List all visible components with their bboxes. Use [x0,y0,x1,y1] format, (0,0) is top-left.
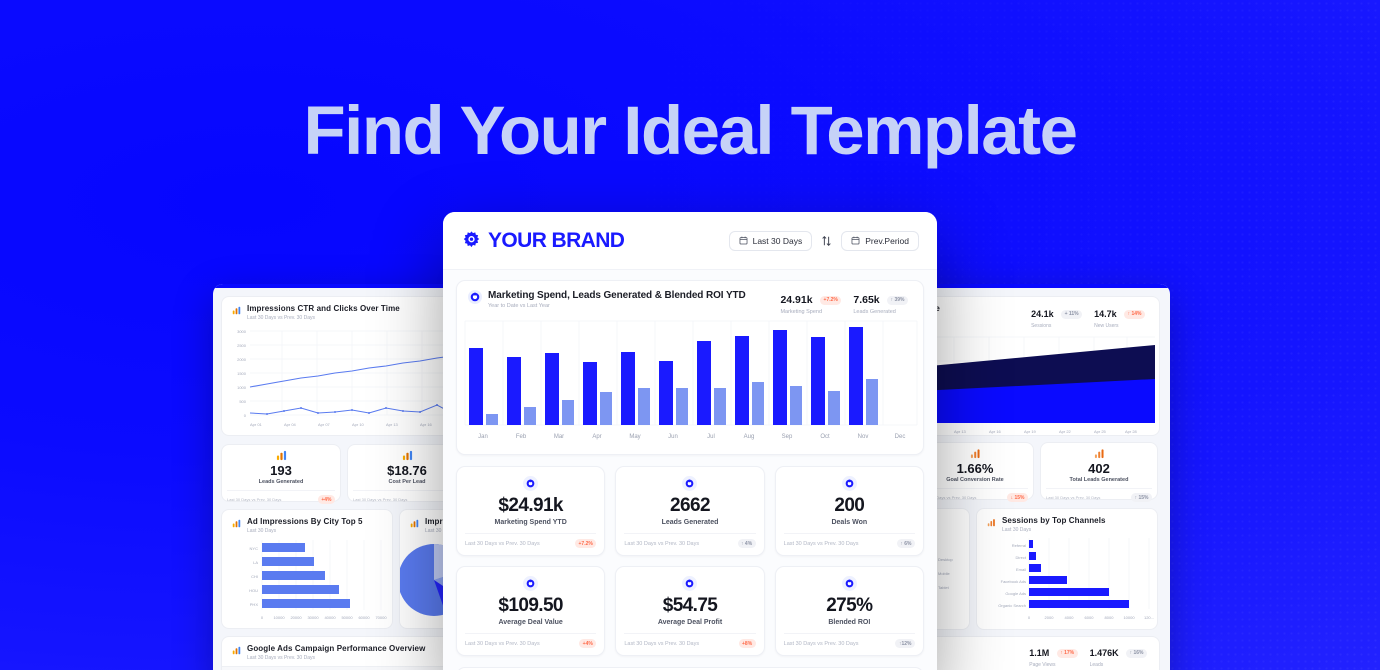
svg-text:Apr 16: Apr 16 [989,429,1002,434]
dashboard-body: Marketing Spend, Leads Generated & Blend… [443,270,937,670]
right-background-dashboard: Time 24.1k + 11% Sessions 14.7k ↑ 14% Ne… [918,284,1170,670]
google-analytics-icon [276,450,287,461]
kpi-compare: Last 30 Days vs Prev. 30 Days [624,641,699,647]
google-analytics-icon [230,517,242,529]
svg-text:60000: 60000 [358,615,370,620]
left-city-bar-card: Ad Impressions By City Top 5 Last 30 Day… [221,509,393,629]
right-channels-svg: Referral Direct Email Facebook Ads Googl… [977,537,1159,627]
kpi-value: 193 [227,463,335,478]
svg-text:2000: 2000 [237,357,247,362]
svg-text:Apr 01: Apr 01 [250,422,263,427]
kpi-delta-badge: +4% [579,639,596,648]
bar-jun-leads [676,388,688,425]
google-analytics-icon [402,450,413,461]
card-subtitle: Last 30 Days [1002,527,1106,533]
marketing-spend-chart-card: Marketing Spend, Leads Generated & Blend… [456,280,924,455]
kpi-compare: Last 30 Days vs Prev. 30 Days [624,541,699,547]
svg-text:Sep: Sep [782,434,793,440]
date-range-button[interactable]: Last 30 Days [729,231,813,251]
svg-text:Referral: Referral [1012,543,1026,548]
right-area-chart-card: Time 24.1k + 11% Sessions 14.7k ↑ 14% Ne… [918,296,1160,436]
svg-text:LA: LA [253,560,258,565]
svg-text:1500: 1500 [237,371,247,376]
card-subtitle: Last 30 Days [247,528,363,534]
bar-feb-spend [507,357,521,425]
metric-delta-badge: ↑ 39% [887,296,908,305]
metric-value: 14.7k [1094,309,1117,319]
right-area-metric-0: 24.1k + 11% Sessions [1031,304,1082,329]
svg-text:120...: 120... [1144,615,1154,620]
card-title: Impressions CTR and Clicks Over Time [247,304,400,313]
bar-chart-icon [1094,448,1105,459]
main-dashboard-window: YOUR BRAND Last 30 Days [443,212,937,670]
metric-label: Sessions [1031,323,1082,329]
kpi-label: Leads Generated [624,519,755,526]
left-line-chart-card: Impressions CTR and Clicks Over Time Las… [221,296,463,436]
svg-text:Mar: Mar [554,434,564,440]
left-background-dashboard: Impressions CTR and Clicks Over Time Las… [213,284,463,670]
svg-text:Apr: Apr [592,434,601,440]
kpi-compare: Last 30 Days vs Prev. 30 Days [1046,495,1100,500]
header-controls: Last 30 Days Prev.Period [729,231,919,251]
left-table-column-headers: Ad Creative Impressions Clicks Leads [222,666,463,670]
svg-text:4000: 4000 [1065,615,1075,620]
hero-title: Find Your Ideal Template [0,96,1380,165]
calendar-icon [851,236,860,245]
left-city-bar-svg: NYC LA CHI HOU PHX 0 10000 20000 30000 4… [222,538,394,626]
svg-text:8000: 8000 [1105,615,1115,620]
gear-icon [461,230,482,251]
svg-text:2500: 2500 [237,343,247,348]
svg-text:Facebook Ads: Facebook Ads [1001,579,1026,584]
kpi-compare: Last 30 Days vs Prev. 30 Days [353,497,407,502]
kpi-compare: Last 30 Days vs Prev. 30 Days [784,541,859,547]
bar-apr-leads [600,392,612,425]
analytics-circle-icon [842,576,857,591]
svg-text:Jun: Jun [668,434,678,440]
chart-title: Marketing Spend, Leads Generated & Blend… [488,290,746,301]
right-table-metric-1: 1.476K ↑ 16% Leads [1090,643,1147,668]
bar-may-spend [621,352,635,425]
kpi-compare: Last 30 Days vs Prev. 30 Days [784,641,859,647]
kpi-delta-badge: +4% [318,495,335,504]
bar-oct-spend [811,337,825,425]
svg-text:Apr 07: Apr 07 [318,422,331,427]
kpi-label: Deals Won [784,519,915,526]
kpi-delta-badge: ↑ 6% [897,539,915,548]
bar-mar-leads [562,400,574,425]
google-analytics-icon [408,517,420,529]
svg-text:Apr 19: Apr 19 [1024,429,1037,434]
bar-may-leads [638,388,650,425]
metric-value: 1.476K [1090,648,1119,658]
kpi-label: Average Deal Profit [624,619,755,626]
kpi-label: Total Leads Generated [1046,477,1152,483]
metric-label: Leads Generated [853,309,908,315]
right-table-header: iew 1.1M ↑ 17% Page Views 1.476K ↑ 16% L… [918,637,1159,670]
svg-text:40000: 40000 [324,615,336,620]
table-column-header[interactable]: Ad Creative [222,667,284,670]
svg-text:Apr 13: Apr 13 [386,422,399,427]
analytics-circle-icon [523,476,538,491]
metric-label: Leads [1090,662,1147,668]
sort-swap-icon[interactable] [819,235,834,247]
bar-aug-leads [752,382,764,425]
right-channels-header: Sessions by Top Channels Last 30 Days [977,509,1157,537]
analytics-circle-icon [468,290,482,304]
bar-apr-spend [583,362,597,425]
bar-nov-leads [866,379,878,425]
left-line-chart-header: Impressions CTR and Clicks Over Time Las… [222,297,463,325]
svg-text:Apr 04: Apr 04 [284,422,297,427]
kpi-value: 275% [784,595,915,617]
metric-delta-badge: + 11% [1061,310,1082,319]
bar-jul-spend [697,341,711,425]
right-table-card: iew 1.1M ↑ 17% Page Views 1.476K ↑ 16% L… [918,636,1160,670]
kpi-label: Goal Conversion Rate [922,477,1028,483]
analytics-circle-icon [523,576,538,591]
kpi-value: $109.50 [465,595,596,617]
metric-delta-badge: ↑ 16% [1126,649,1147,658]
kpi-label: Blended ROI [784,619,915,626]
card-subtitle: Last 30 Days vs Prev. 30 Days [247,315,400,321]
metric-delta-badge: +7.2% [820,296,841,305]
chart-metric-0: 24.91k +7.2% Marketing Spend [780,290,841,315]
chart-subtitle: Year to Date vs Last Year [488,303,746,309]
kpi-compare: Last 30 Days vs Prev. 30 Days [465,541,540,547]
left-table-card: Google Ads Campaign Performance Overview… [221,636,463,670]
svg-text:Google Ads: Google Ads [1005,591,1026,596]
svg-text:3000: 3000 [237,329,247,334]
kpi-value: $54.75 [624,595,755,617]
kpi-grid: $24.91k Marketing Spend YTD Last 30 Days… [456,466,924,656]
kpi-label: Average Deal Value [465,619,596,626]
compare-period-button[interactable]: Prev.Period [841,231,919,251]
bar-aug-spend [735,336,749,425]
left-table-header: Google Ads Campaign Performance Overview… [222,637,463,666]
right-kpi-card-1: 402 Total Leads Generated Last 30 Days v… [1040,442,1158,500]
svg-text:Dec: Dec [895,434,906,440]
right-channels-card: Sessions by Top Channels Last 30 Days Re… [976,508,1158,630]
google-analytics-icon [230,304,242,316]
svg-text:50000: 50000 [341,615,353,620]
metric-value: 7.65k [853,294,879,306]
kpi-delta-badge: +8% [739,639,756,648]
donut-legend-tablet: Tablet [938,585,950,590]
svg-text:Apr 25: Apr 25 [1094,429,1107,434]
kpi-card-average-deal-value: $109.50 Average Deal Value Last 30 Days … [456,566,605,656]
marketing-spend-bar-chart: Jan Feb Mar Apr May Jun Jul Aug Sep Oct … [457,319,925,449]
kpi-label: Marketing Spend YTD [465,519,596,526]
svg-text:CHI: CHI [251,574,258,579]
right-area-chart-svg: Apr 10Apr 13 Apr 16Apr 19 Apr 22Apr 25 A… [918,333,1161,441]
brand-logo[interactable]: YOUR BRAND [461,229,624,253]
donut-legend-mobile: Mobile [938,571,951,576]
kpi-value: 200 [784,495,915,517]
svg-text:Organic Search: Organic Search [998,603,1026,608]
svg-text:HOU: HOU [249,588,258,593]
right-area-chart-header: Time 24.1k + 11% Sessions 14.7k ↑ 14% Ne… [918,297,1159,333]
kpi-card-marketing-spend: $24.91k Marketing Spend YTD Last 30 Days… [456,466,605,556]
date-range-label: Last 30 Days [753,236,803,246]
svg-text:2000: 2000 [1045,615,1055,620]
svg-text:Apr 22: Apr 22 [1059,429,1072,434]
svg-text:Jul: Jul [707,434,715,440]
kpi-card-leads-generated: 2662 Leads Generated Last 30 Days vs Pre… [615,466,764,556]
svg-text:Nov: Nov [858,434,869,440]
svg-text:Jan: Jan [478,434,488,440]
analytics-circle-icon [842,476,857,491]
kpi-compare: Last 30 Days vs Prev. 30 Days [227,497,281,502]
svg-text:0: 0 [244,413,247,418]
bar-oct-leads [828,391,840,425]
svg-text:Feb: Feb [516,434,527,440]
svg-text:Aug: Aug [744,434,755,440]
svg-text:Direct: Direct [1016,555,1027,560]
kpi-delta-badge: ↑ 4% [738,539,756,548]
metric-label: Page Views [1029,662,1077,668]
bar-chart-icon [970,448,981,459]
svg-text:Apr 28: Apr 28 [1125,429,1138,434]
metric-delta-badge: ↑ 14% [1124,310,1145,319]
bar-sep-spend [773,330,787,425]
svg-text:30000: 30000 [307,615,319,620]
card-title: Sessions by Top Channels [1002,516,1106,525]
brand-name: YOUR BRAND [488,229,624,253]
kpi-card-blended-roi: 275% Blended ROI Last 30 Days vs Prev. 3… [775,566,924,656]
svg-text:0: 0 [261,615,264,620]
analytics-circle-icon [682,576,697,591]
left-city-bar-header: Ad Impressions By City Top 5 Last 30 Day… [222,510,392,538]
analytics-circle-icon [682,476,697,491]
card-title: Google Ads Campaign Performance Overview [247,644,425,653]
svg-text:1000: 1000 [237,385,247,390]
svg-text:500: 500 [239,399,246,404]
svg-text:Oct: Oct [820,434,830,440]
card-title: Ad Impressions By City Top 5 [247,517,363,526]
bar-mar-spend [545,353,559,425]
kpi-delta-badge: ↑ 15% [1131,493,1152,502]
table-column-header[interactable]: Clicks [346,667,408,670]
svg-text:0: 0 [1028,615,1031,620]
kpi-card-deals-won: 200 Deals Won Last 30 Days vs Prev. 30 D… [775,466,924,556]
svg-text:6000: 6000 [1085,615,1095,620]
dashboard-header: YOUR BRAND Last 30 Days [443,212,937,270]
svg-text:20000: 20000 [290,615,302,620]
card-subtitle: Last 30 Days vs Prev. 30 Days [247,655,425,661]
svg-text:NYC: NYC [250,546,259,551]
bar-jun-spend [659,361,673,425]
kpi-value: 1.66% [922,461,1028,476]
table-column-header[interactable]: Impressions [284,667,346,670]
right-table-metric-0: 1.1M ↑ 17% Page Views [1029,643,1077,668]
metric-label: New Users [1094,323,1145,329]
marketing-spend-chart-header: Marketing Spend, Leads Generated & Blend… [457,281,923,315]
metric-value: 24.91k [780,294,812,306]
metric-label: Marketing Spend [780,309,841,315]
metric-delta-badge: ↑ 17% [1057,649,1078,658]
compare-period-label: Prev.Period [865,236,909,246]
kpi-card-average-deal-profit: $54.75 Average Deal Profit Last 30 Days … [615,566,764,656]
bar-sep-leads [790,386,802,425]
svg-text:Email: Email [1016,567,1026,572]
svg-text:10000: 10000 [1123,615,1135,620]
svg-text:Apr 13: Apr 13 [954,429,967,434]
bar-feb-leads [524,407,536,425]
kpi-value: $24.91k [465,495,596,517]
svg-text:10000: 10000 [273,615,285,620]
svg-text:Apr 10: Apr 10 [352,422,365,427]
kpi-delta-badge: ↑12% [895,639,915,648]
bar-chart-icon [985,516,997,528]
chart-metric-1: 7.65k ↑ 39% Leads Generated [853,290,908,315]
right-area-metric-1: 14.7k ↑ 14% New Users [1094,304,1145,329]
svg-text:May: May [629,434,640,440]
metric-value: 1.1M [1029,648,1049,658]
donut-legend-desktop: Desktop [938,557,953,562]
kpi-delta-badge: ↓ 15% [1007,493,1028,502]
bar-jan-spend [469,348,483,425]
bar-jul-leads [714,388,726,425]
kpi-compare: Last 30 Days vs Prev. 30 Days [465,641,540,647]
metric-value: 24.1k [1031,309,1054,319]
kpi-value: 2662 [624,495,755,517]
left-kpi-card-0: 193 Leads Generated Last 30 Days vs Prev… [221,444,341,502]
google-analytics-icon [230,644,242,656]
kpi-delta-badge: +7.2% [575,539,596,548]
kpi-value: 402 [1046,461,1152,476]
svg-text:70000: 70000 [375,615,387,620]
calendar-icon [739,236,748,245]
svg-text:PHX: PHX [250,602,259,607]
svg-text:Apr 16: Apr 16 [420,422,433,427]
bar-jan-leads [486,414,498,425]
kpi-label: Leads Generated [227,479,335,485]
left-line-chart-svg: 3000 2500 2000 1500 1000 500 0 Apr 01Apr… [222,325,463,433]
bar-nov-spend [849,327,863,425]
